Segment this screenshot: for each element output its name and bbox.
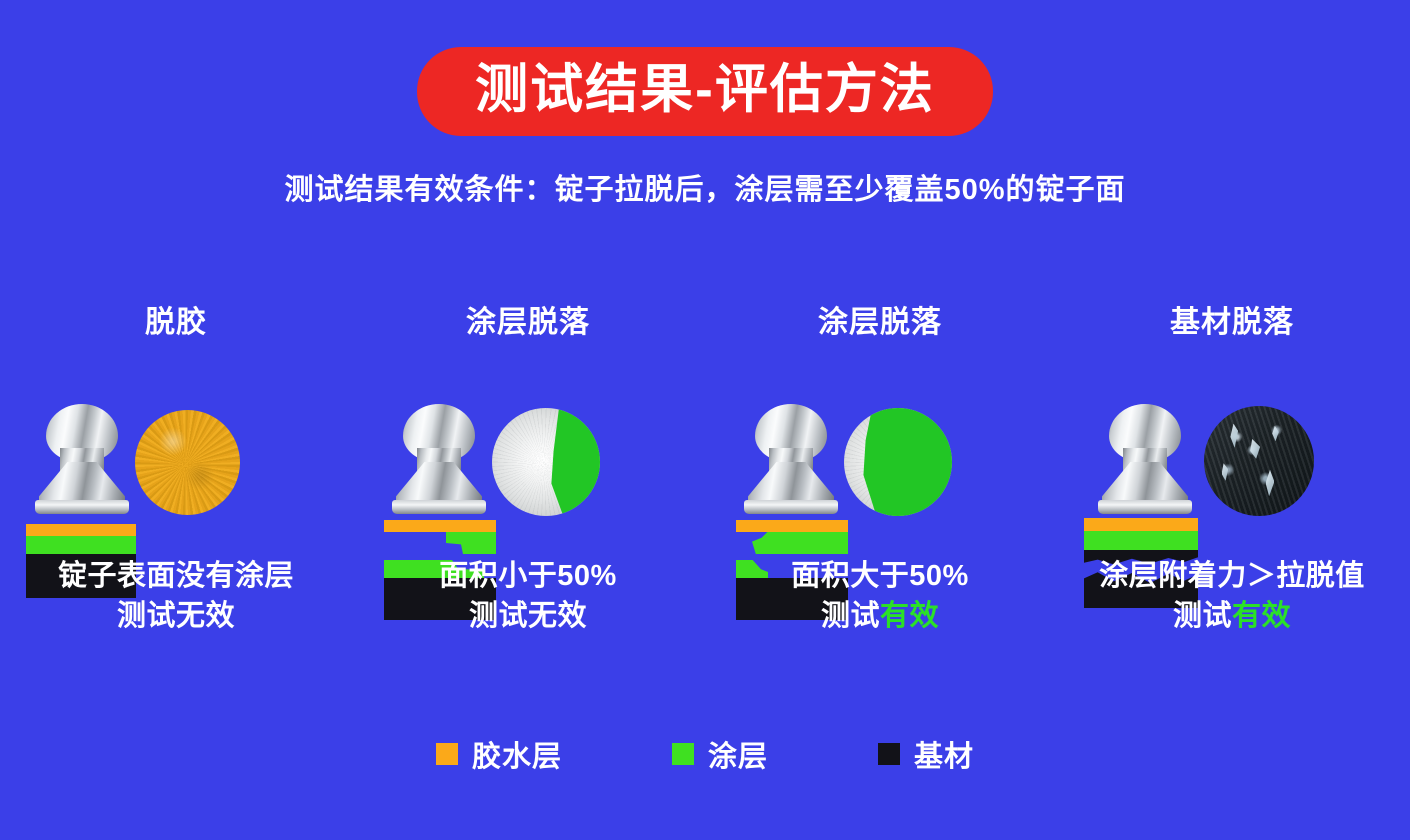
dolly-icon	[1096, 404, 1194, 514]
substrate-shard	[1266, 470, 1275, 496]
legend-label: 胶水层	[472, 733, 562, 775]
glue-layer	[1084, 518, 1198, 531]
panel-illustration	[1056, 348, 1408, 548]
caption-coating-loss-small: 面积小于50% 测试无效	[352, 556, 704, 636]
caption-result: 无效	[176, 600, 235, 632]
panel-heading: 脱胶	[0, 306, 352, 348]
caption-line-1: 涂层附着力＞拉脱值	[1056, 556, 1408, 596]
glue-layer	[26, 524, 136, 536]
caption-prefix: 测试	[821, 600, 880, 632]
subtitle-text: 测试结果有效条件：锭子拉脱后，涂层需至少覆盖50%的锭子面	[0, 166, 1410, 208]
dolly-flange	[744, 500, 838, 514]
dolly-flange	[35, 500, 129, 514]
panel-illustration	[352, 348, 704, 548]
glue-layer	[384, 520, 496, 532]
legend: 胶水层 涂层 基材	[0, 733, 1410, 775]
dolly-icon	[742, 404, 840, 514]
caption-line-2: 测试有效	[1056, 596, 1408, 636]
caption-prefix: 测试	[1173, 600, 1232, 632]
coating-layer	[1084, 531, 1198, 550]
caption-result: 无效	[528, 600, 587, 632]
legend-item-substrate: 基材	[878, 733, 974, 775]
substrate-shard	[1222, 463, 1229, 481]
dolly-face-glue-icon	[135, 410, 240, 515]
caption-prefix: 测试	[117, 600, 176, 632]
panel-illustration	[704, 348, 1056, 548]
substrate-swatch-icon	[878, 743, 900, 765]
glue-layer	[736, 520, 848, 532]
dolly-icon	[390, 404, 488, 514]
caption-line-1: 面积大于50%	[704, 556, 1056, 596]
coating-swatch-icon	[672, 743, 694, 765]
substrate-shard	[1250, 439, 1260, 459]
caption-substrate-failure: 涂层附着力＞拉脱值 测试有效	[1056, 556, 1408, 636]
caption-coating-loss-large: 面积大于50% 测试有效	[704, 556, 1056, 636]
title-banner: 测试结果-评估方法	[0, 47, 1410, 136]
substrate-shard	[1272, 426, 1279, 441]
caption-debond: 锭子表面没有涂层 测试无效	[0, 556, 352, 636]
dolly-flange	[392, 500, 486, 514]
captions-row: 锭子表面没有涂层 测试无效 面积小于50% 测试无效 面积大于50% 测试有效 …	[0, 556, 1410, 636]
legend-item-coating: 涂层	[672, 733, 768, 775]
caption-line-1: 锭子表面没有涂层	[0, 556, 352, 596]
caption-line-2: 测试无效	[352, 596, 704, 636]
legend-label: 基材	[914, 733, 974, 775]
panel-heading: 涂层脱落	[352, 306, 704, 348]
caption-line-1: 面积小于50%	[352, 556, 704, 596]
dolly-flange	[1098, 500, 1192, 514]
coating-layer-pulled	[752, 532, 848, 554]
panel-illustration	[0, 348, 352, 548]
coating-layer-pulled	[446, 532, 496, 554]
caption-prefix: 测试	[469, 600, 528, 632]
caption-line-2: 测试有效	[704, 596, 1056, 636]
page-title: 测试结果-评估方法	[417, 47, 993, 136]
panel-heading: 基材脱落	[1056, 306, 1408, 348]
caption-result: 有效	[880, 600, 939, 632]
glue-swatch-icon	[436, 743, 458, 765]
legend-item-glue: 胶水层	[436, 733, 562, 775]
slide-root: 测试结果-评估方法 测试结果有效条件：锭子拉脱后，涂层需至少覆盖50%的锭子面 …	[0, 0, 1410, 840]
dolly-face-substrate-icon	[1204, 406, 1314, 516]
caption-result: 有效	[1232, 600, 1291, 632]
panel-heading: 涂层脱落	[704, 306, 1056, 348]
dolly-face-partial-coating-icon	[492, 408, 600, 516]
substrate-shard	[1230, 424, 1238, 448]
dolly-icon	[33, 404, 131, 514]
dolly-face-partial-coating-icon	[844, 408, 952, 516]
coating-layer	[26, 536, 136, 554]
caption-line-2: 测试无效	[0, 596, 352, 636]
legend-label: 涂层	[708, 733, 768, 775]
